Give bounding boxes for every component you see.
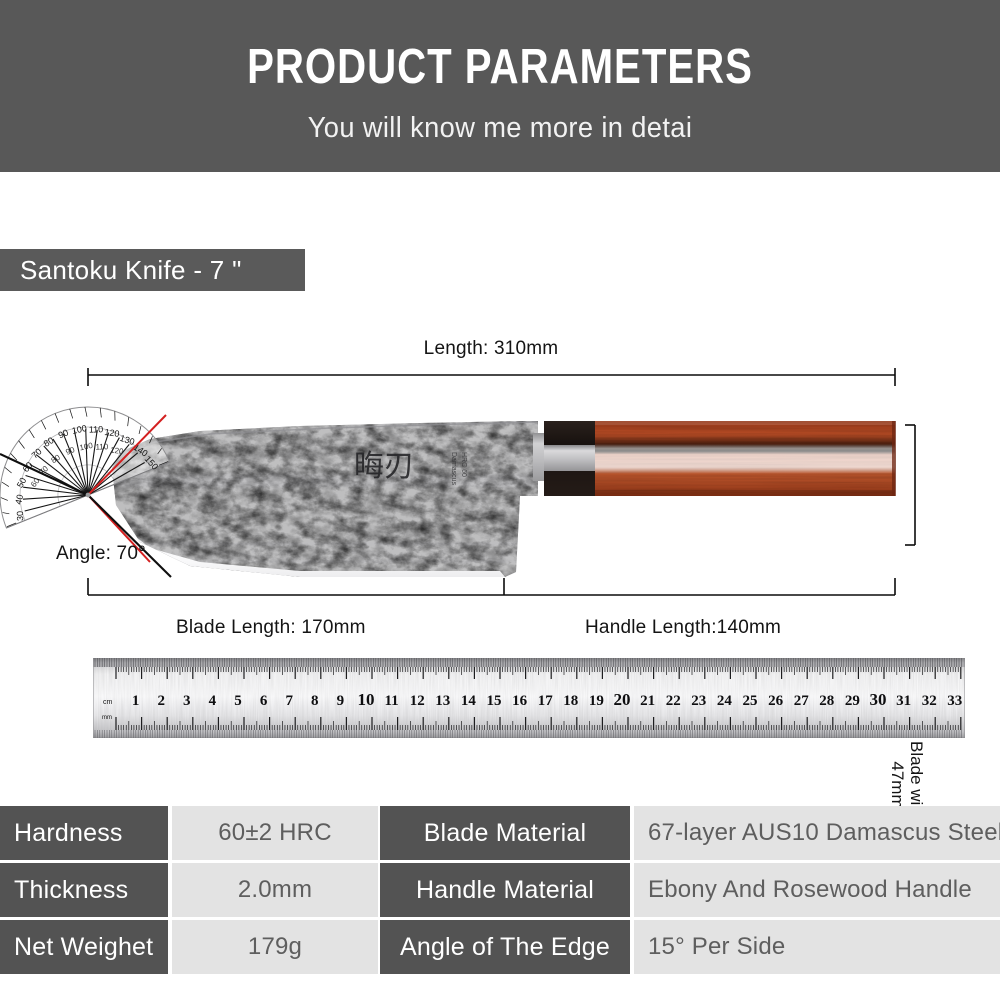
ruler-number: 18 [563, 693, 578, 709]
ruler-number: 11 [385, 693, 399, 709]
spec-label-handle-material: Handle Material [380, 863, 630, 917]
product-name-badge: Santoku Knife - 7 " [0, 249, 305, 291]
ruler-unit-label: cm [103, 699, 113, 706]
ruler-number: 7 [285, 693, 293, 709]
ruler-number: 31 [896, 693, 911, 709]
ruler-number: 15 [487, 693, 502, 709]
angle-label: Angle: 70° [56, 543, 146, 565]
ruler-number: 16 [512, 693, 528, 709]
table-row: Hardness 60±2 HRC Blade Material 67-laye… [0, 806, 1000, 860]
ruler-number: 32 [922, 693, 937, 709]
ruler-number: 19 [589, 693, 604, 709]
spec-value-edge-angle: 15° Per Side [634, 920, 1000, 974]
ruler-number: 12 [410, 693, 425, 709]
ruler-number: 2 [157, 693, 165, 709]
ruler-number: 5 [234, 693, 242, 709]
spec-value-blade-material: 67-layer AUS10 Damascus Steel [634, 806, 1000, 860]
specification-table: Hardness 60±2 HRC Blade Material 67-laye… [0, 806, 1000, 977]
ruler-number: 9 [337, 693, 345, 709]
page-subtitle: You will know me more in detai [30, 108, 970, 148]
product-name-label: Santoku Knife - 7 " [0, 255, 242, 286]
ruler-number: 33 [947, 693, 962, 709]
ruler-number: 22 [666, 693, 681, 709]
ruler-number: 30 [870, 690, 887, 709]
ruler-number: 20 [614, 690, 631, 709]
ruler-number: 1 [132, 693, 140, 709]
ruler-number: 28 [819, 693, 834, 709]
total-length-label: Length: 310mm [0, 338, 982, 360]
spec-label-hardness: Hardness [0, 806, 168, 860]
table-row: Net Weighet 179g Angle of The Edge 15° P… [0, 920, 1000, 974]
ruler-number: 17 [538, 693, 554, 709]
blade-length-label: Blade Length: 170mm [176, 617, 366, 639]
spec-label-net-weight: Net Weighet [0, 920, 168, 974]
ruler-number: 29 [845, 693, 860, 709]
ruler-number: 4 [209, 693, 217, 709]
ruler-number: 23 [691, 693, 706, 709]
ruler-number: 3 [183, 693, 191, 709]
spec-value-net-weight: 179g [172, 920, 378, 974]
ruler-number: 26 [768, 693, 784, 709]
spec-value-thickness: 2.0mm [172, 863, 378, 917]
spec-label-blade-material: Blade Material [380, 806, 630, 860]
page-title: PRODUCT PARAMETERS [90, 38, 910, 96]
spec-value-hardness: 60±2 HRC [172, 806, 378, 860]
spec-label-thickness: Thickness [0, 863, 168, 917]
ruler-number: 8 [311, 693, 319, 709]
ruler-number: 13 [435, 693, 450, 709]
spec-value-handle-material: Ebony And Rosewood Handle [634, 863, 1000, 917]
ruler-number: 27 [794, 693, 810, 709]
ruler-mm-label: mm [102, 715, 112, 721]
ruler-number: 21 [640, 693, 655, 709]
ruler-number: 6 [260, 693, 268, 709]
ruler-number: 25 [743, 693, 758, 709]
spec-label-edge-angle: Angle of The Edge [380, 920, 630, 974]
header-banner: PRODUCT PARAMETERS You will know me more… [0, 0, 1000, 172]
handle-length-label: Handle Length:140mm [585, 617, 781, 639]
table-row: Thickness 2.0mm Handle Material Ebony An… [0, 863, 1000, 917]
steel-ruler: 1234567891011121314151617181920212223242… [93, 658, 965, 738]
ruler-number: 24 [717, 693, 733, 709]
ruler-number: 14 [461, 693, 477, 709]
ruler-number: 10 [358, 690, 375, 709]
